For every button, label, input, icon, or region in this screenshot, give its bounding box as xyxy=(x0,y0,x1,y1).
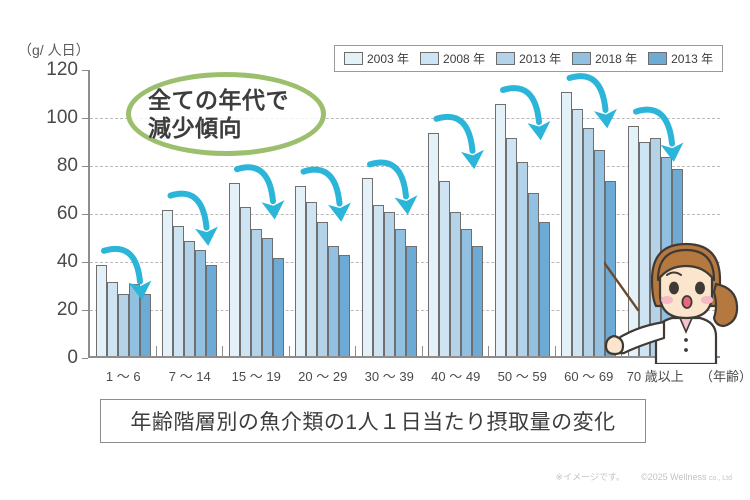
y-axis-unit-label: （g/ 人日） xyxy=(18,40,90,60)
bar[interactable] xyxy=(506,138,517,356)
y-tick-mark xyxy=(82,118,88,119)
bar[interactable] xyxy=(107,282,118,356)
x-axis-label: 60 ～ 69 xyxy=(556,366,623,385)
bar[interactable] xyxy=(339,255,350,356)
x-axis-label: 1 ～ 6 xyxy=(90,366,157,385)
bar[interactable] xyxy=(206,265,217,356)
legend-label: 2003 年 xyxy=(367,50,409,67)
bar[interactable] xyxy=(373,205,384,356)
bar[interactable] xyxy=(561,92,572,356)
bar-group xyxy=(356,70,423,356)
y-tick-mark xyxy=(82,262,88,263)
bar[interactable] xyxy=(461,229,472,356)
x-axis-title: （年齢） xyxy=(700,366,750,385)
y-tick-label: 120 xyxy=(46,59,78,81)
bar[interactable] xyxy=(406,246,417,356)
bar[interactable] xyxy=(295,186,306,356)
bar[interactable] xyxy=(495,104,506,356)
y-tick-label: 20 xyxy=(57,299,78,321)
bar[interactable] xyxy=(306,202,317,356)
bar[interactable] xyxy=(251,229,262,356)
legend-item[interactable]: 2013 年 xyxy=(496,50,561,67)
legend-item[interactable]: 2018 年 xyxy=(572,50,637,67)
bar[interactable] xyxy=(395,229,406,356)
bar[interactable] xyxy=(362,178,373,356)
bar[interactable] xyxy=(450,212,461,356)
y-tick-label: 0 xyxy=(67,347,78,369)
annotation-line-1: 全ての年代で xyxy=(148,86,326,114)
female-presenter-icon xyxy=(604,236,750,364)
bar[interactable] xyxy=(229,183,240,356)
x-axis-label: 40 ～ 49 xyxy=(423,366,490,385)
legend-label: 2018 年 xyxy=(595,50,637,67)
image-disclaimer: ※イメージです。 xyxy=(556,470,625,483)
y-tick-mark xyxy=(82,358,88,359)
legend-swatch-icon xyxy=(420,52,439,65)
x-axis-labels: 1 ～ 67 ～ 1415 ～ 1920 ～ 2930 ～ 3940 ～ 495… xyxy=(90,366,708,385)
y-tick-label: 80 xyxy=(57,155,78,177)
y-tick-label: 40 xyxy=(57,251,78,273)
bar[interactable] xyxy=(528,193,539,356)
legend-item[interactable]: 2008 年 xyxy=(420,50,485,67)
copyright-main: ©2025 Wellness xyxy=(641,472,707,482)
legend-swatch-icon xyxy=(648,52,667,65)
bar[interactable] xyxy=(472,246,483,356)
bar[interactable] xyxy=(517,162,528,356)
bar[interactable] xyxy=(140,294,151,356)
bar[interactable] xyxy=(240,207,251,356)
annotation-text: 全ての年代で 減少傾向 xyxy=(126,72,326,156)
legend-swatch-icon xyxy=(572,52,591,65)
y-tick-label: 60 xyxy=(57,203,78,225)
y-tick-label: 100 xyxy=(46,107,78,129)
bar[interactable] xyxy=(384,212,395,356)
bar[interactable] xyxy=(572,109,583,356)
copyright: ©2025 Wellness co., Ltd xyxy=(641,472,732,482)
bar[interactable] xyxy=(96,265,107,356)
legend-swatch-icon xyxy=(496,52,515,65)
y-tick-mark xyxy=(82,310,88,311)
bar[interactable] xyxy=(328,246,339,356)
legend-item[interactable]: 2003 年 xyxy=(344,50,409,67)
footer: ※イメージです。 ©2025 Wellness co., Ltd xyxy=(556,470,732,483)
bar[interactable] xyxy=(262,238,273,356)
bar-group xyxy=(489,70,556,356)
chart-caption: 年齢階層別の魚介類の1人１日当たり摂取量の変化 xyxy=(100,399,646,443)
x-axis-label: 70 歳以上 xyxy=(622,366,689,385)
x-axis-label: 30 ～ 39 xyxy=(356,366,423,385)
chart-legend: 2003 年2008 年2013 年2018 年2013 年 xyxy=(334,45,723,72)
trend-annotation: 全ての年代で 減少傾向 xyxy=(126,72,326,156)
x-axis-label: 50 ～ 59 xyxy=(489,366,556,385)
bar[interactable] xyxy=(184,241,195,356)
bar[interactable] xyxy=(428,133,439,356)
legend-label: 2008 年 xyxy=(443,50,485,67)
y-tick-mark xyxy=(82,166,88,167)
annotation-line-2: 減少傾向 xyxy=(148,114,326,142)
bar[interactable] xyxy=(173,226,184,356)
bar[interactable] xyxy=(539,222,550,356)
bar[interactable] xyxy=(162,210,173,356)
bar[interactable] xyxy=(583,128,594,356)
copyright-suffix: co., Ltd xyxy=(709,475,732,482)
y-tick-mark xyxy=(82,70,88,71)
legend-item[interactable]: 2013 年 xyxy=(648,50,713,67)
bar[interactable] xyxy=(317,222,328,356)
x-axis-label: 7 ～ 14 xyxy=(157,366,224,385)
bar[interactable] xyxy=(195,250,206,356)
legend-label: 2013 年 xyxy=(671,50,713,67)
x-axis-label: 15 ～ 19 xyxy=(223,366,290,385)
legend-swatch-icon xyxy=(344,52,363,65)
bar[interactable] xyxy=(273,258,284,356)
bar[interactable] xyxy=(439,181,450,356)
bar-group xyxy=(423,70,490,356)
chart-page: （g/ 人日） 2003 年2008 年2013 年2018 年2013 年 0… xyxy=(0,0,750,500)
bar[interactable] xyxy=(118,294,129,356)
x-axis-label: 20 ～ 29 xyxy=(290,366,357,385)
legend-label: 2013 年 xyxy=(519,50,561,67)
bar[interactable] xyxy=(129,284,140,356)
y-tick-mark xyxy=(82,214,88,215)
